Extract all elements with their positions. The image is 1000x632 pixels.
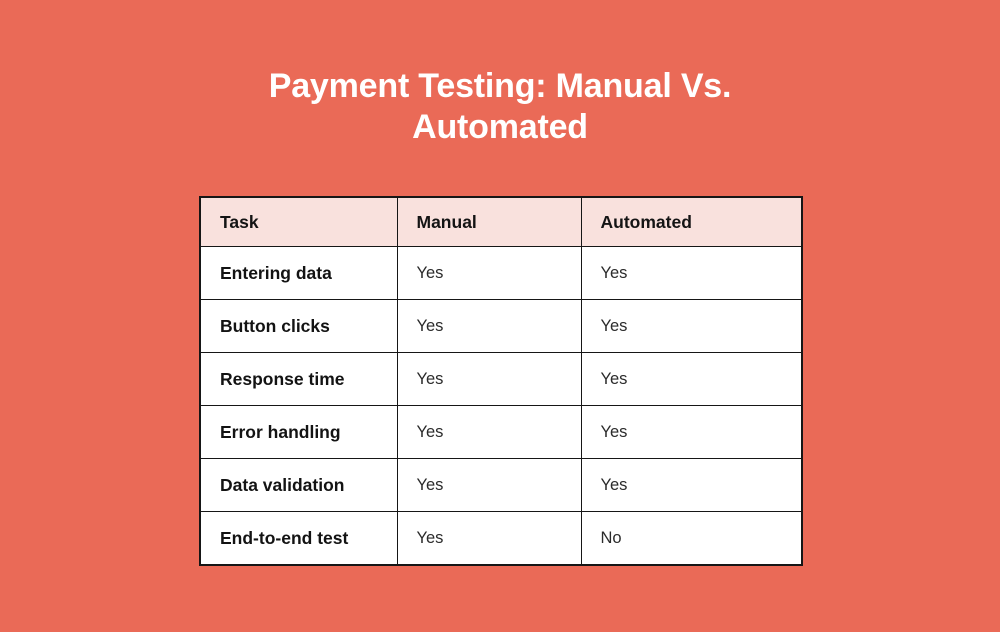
table-row: Response time Yes Yes xyxy=(200,353,802,406)
table-row: Entering data Yes Yes xyxy=(200,247,802,300)
cell-manual: Yes xyxy=(397,406,581,459)
table-row: Error handling Yes Yes xyxy=(200,406,802,459)
slide-canvas: Payment Testing: Manual Vs. Automated Ta… xyxy=(0,0,1000,632)
cell-automated: Yes xyxy=(581,459,802,512)
column-header-automated: Automated xyxy=(581,197,802,247)
column-header-manual: Manual xyxy=(397,197,581,247)
comparison-table-container: Task Manual Automated Entering data Yes … xyxy=(199,196,801,566)
page-title-line-1: Payment Testing: Manual Vs. xyxy=(269,67,732,105)
cell-manual: Yes xyxy=(397,459,581,512)
cell-manual: Yes xyxy=(397,512,581,566)
column-header-task: Task xyxy=(200,197,397,247)
cell-manual: Yes xyxy=(397,300,581,353)
page-title: Payment Testing: Manual Vs. Automated xyxy=(0,66,1000,148)
cell-automated: Yes xyxy=(581,300,802,353)
cell-task: Response time xyxy=(200,353,397,406)
cell-manual: Yes xyxy=(397,353,581,406)
comparison-table: Task Manual Automated Entering data Yes … xyxy=(199,196,803,566)
cell-manual: Yes xyxy=(397,247,581,300)
cell-task: Data validation xyxy=(200,459,397,512)
table-body: Entering data Yes Yes Button clicks Yes … xyxy=(200,247,802,566)
table-header-row: Task Manual Automated xyxy=(200,197,802,247)
table-row: Data validation Yes Yes xyxy=(200,459,802,512)
cell-automated: Yes xyxy=(581,353,802,406)
cell-automated: Yes xyxy=(581,406,802,459)
cell-task: Entering data xyxy=(200,247,397,300)
table-row: End-to-end test Yes No xyxy=(200,512,802,566)
cell-automated: Yes xyxy=(581,247,802,300)
cell-task: Error handling xyxy=(200,406,397,459)
table-row: Button clicks Yes Yes xyxy=(200,300,802,353)
cell-automated: No xyxy=(581,512,802,566)
cell-task: End-to-end test xyxy=(200,512,397,566)
page-title-line-2: Automated xyxy=(412,108,588,146)
cell-task: Button clicks xyxy=(200,300,397,353)
table-header: Task Manual Automated xyxy=(200,197,802,247)
